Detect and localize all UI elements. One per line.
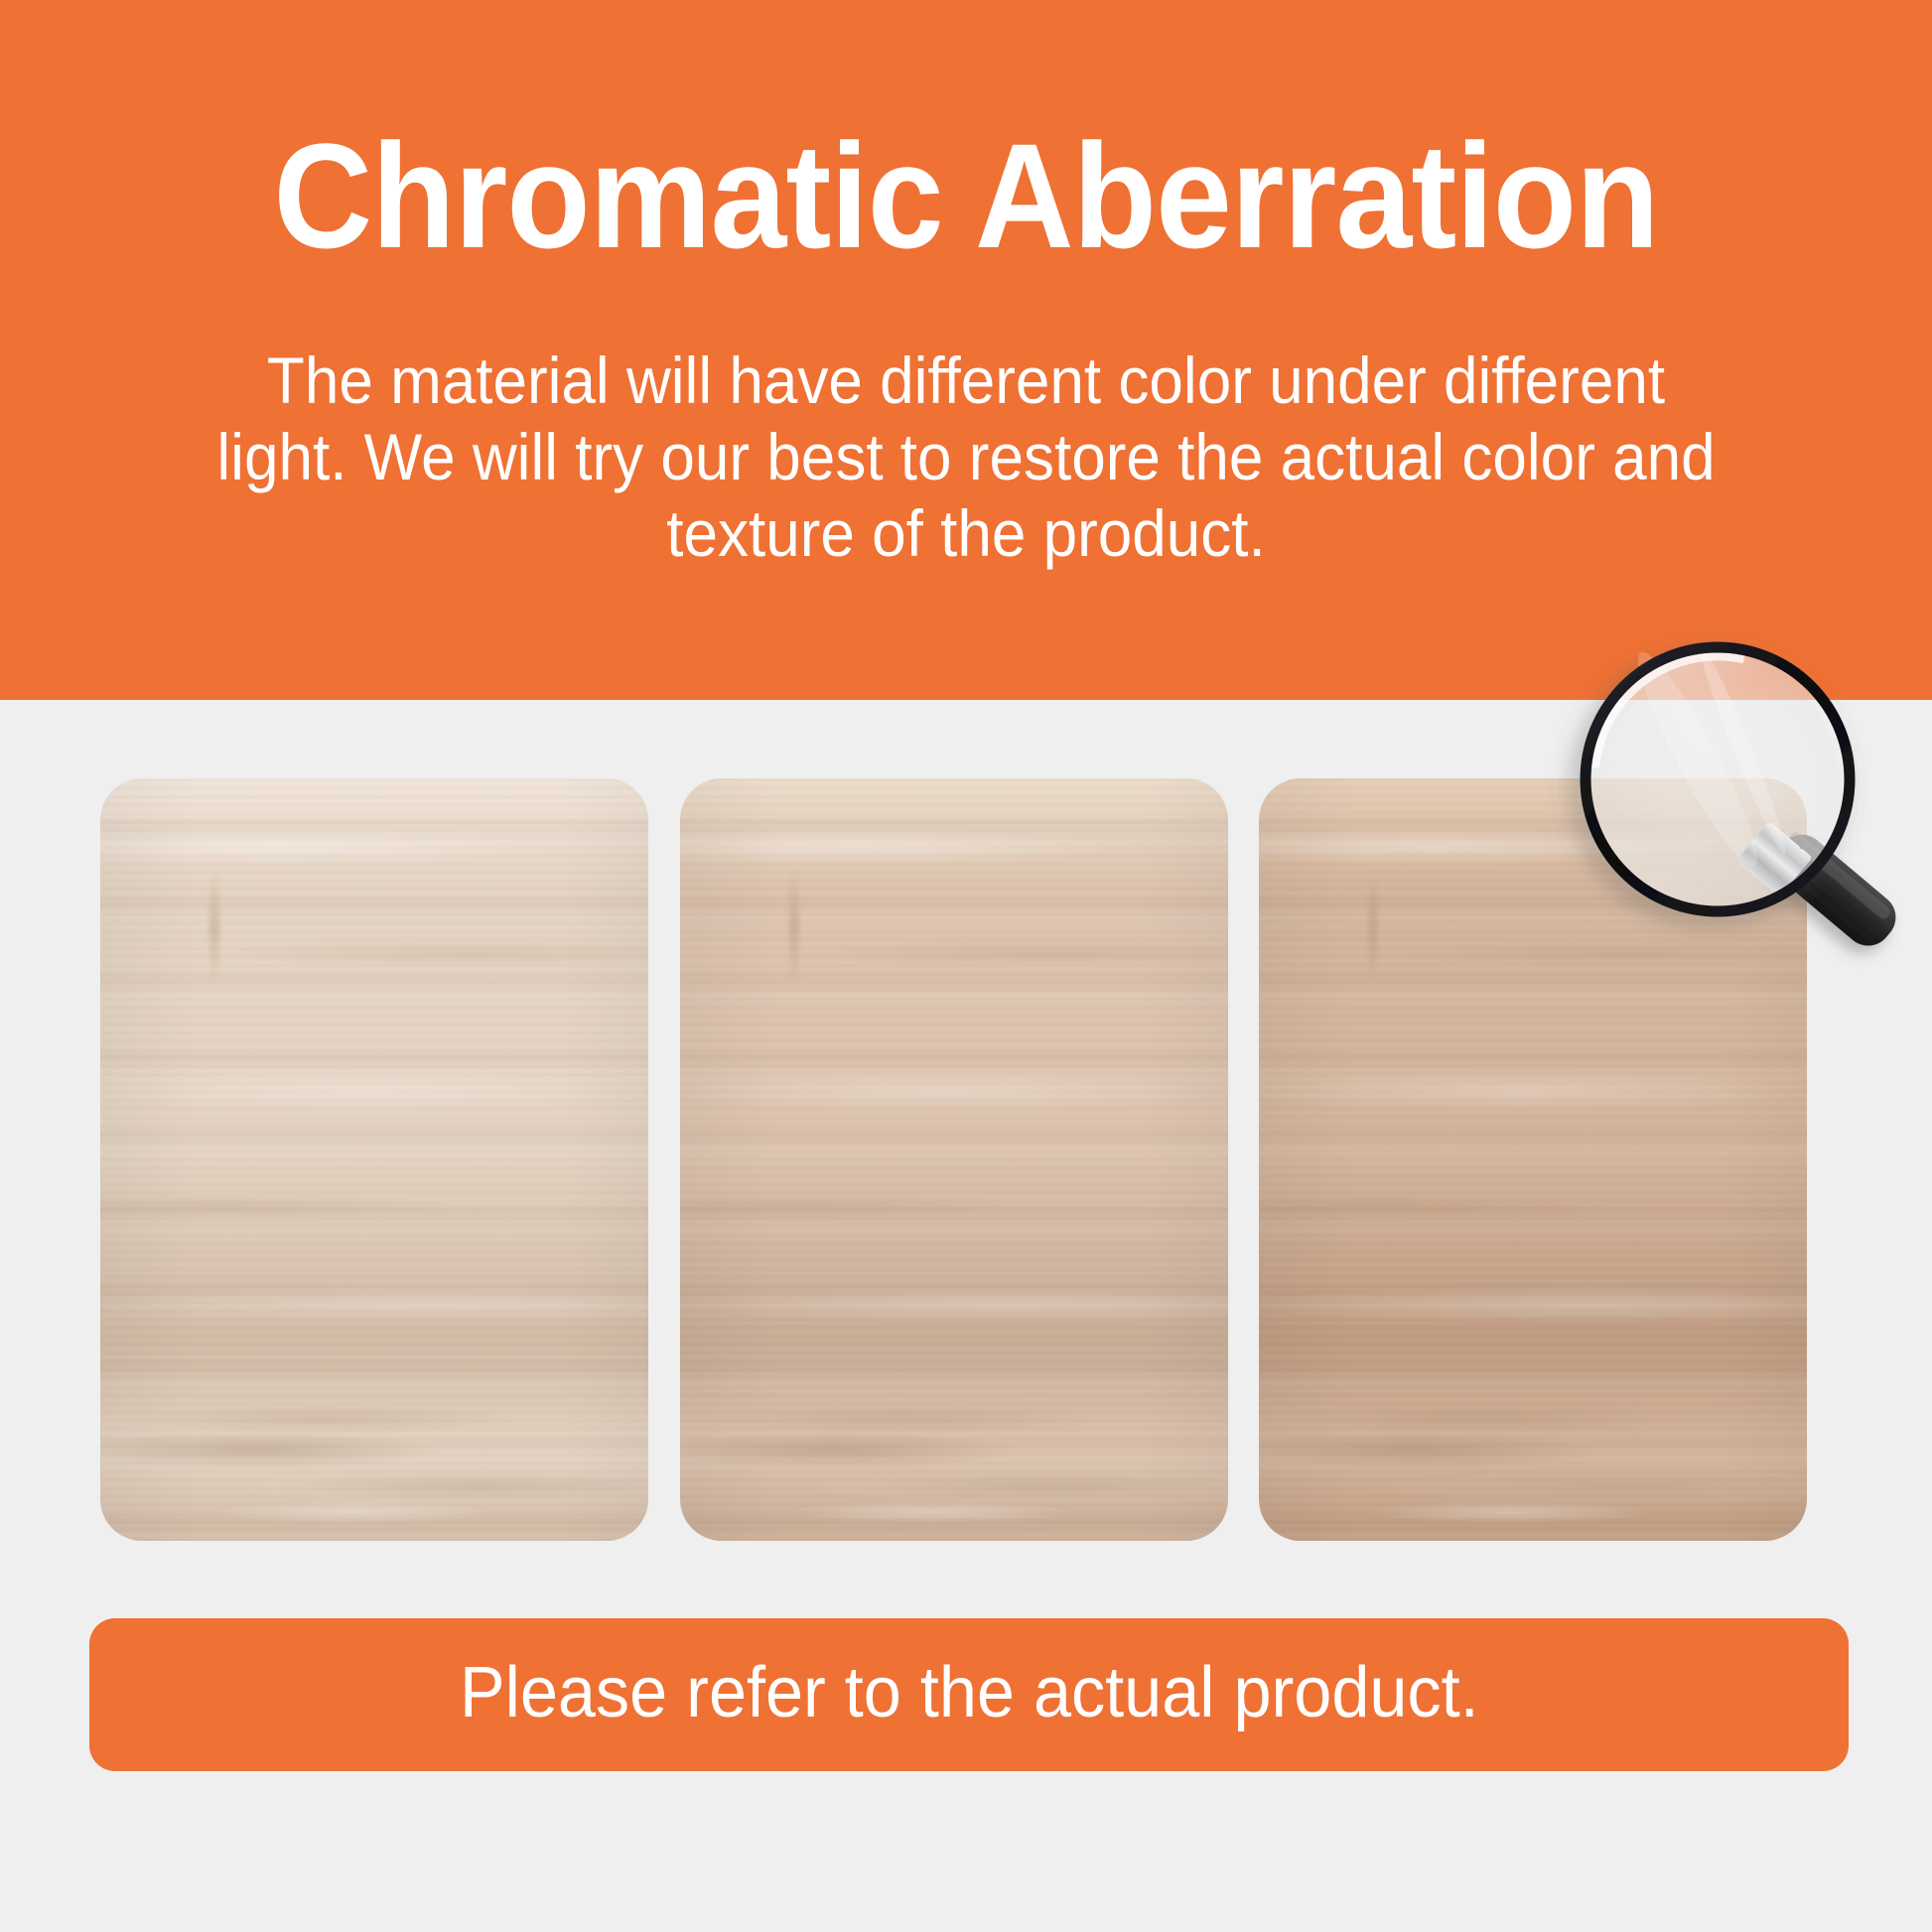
page-subtitle: The material will have different color u… xyxy=(216,343,1716,573)
material-swatch-light[interactable] xyxy=(100,778,648,1541)
material-swatch-row xyxy=(100,778,1807,1541)
page-title: Chromatic Aberration xyxy=(77,121,1855,270)
wood-edge-shading xyxy=(100,778,648,1541)
material-swatch-dark[interactable] xyxy=(1259,778,1807,1541)
wood-edge-shading xyxy=(680,778,1228,1541)
cta-label: Please refer to the actual product. xyxy=(460,1657,1479,1728)
material-swatch-medium[interactable] xyxy=(680,778,1228,1541)
wood-edge-shading xyxy=(1259,778,1807,1541)
refer-to-actual-product-button[interactable]: Please refer to the actual product. xyxy=(89,1618,1849,1771)
chromatic-aberration-infographic: Chromatic Aberration The material will h… xyxy=(0,0,1932,1932)
header-banner: Chromatic Aberration The material will h… xyxy=(0,0,1932,700)
